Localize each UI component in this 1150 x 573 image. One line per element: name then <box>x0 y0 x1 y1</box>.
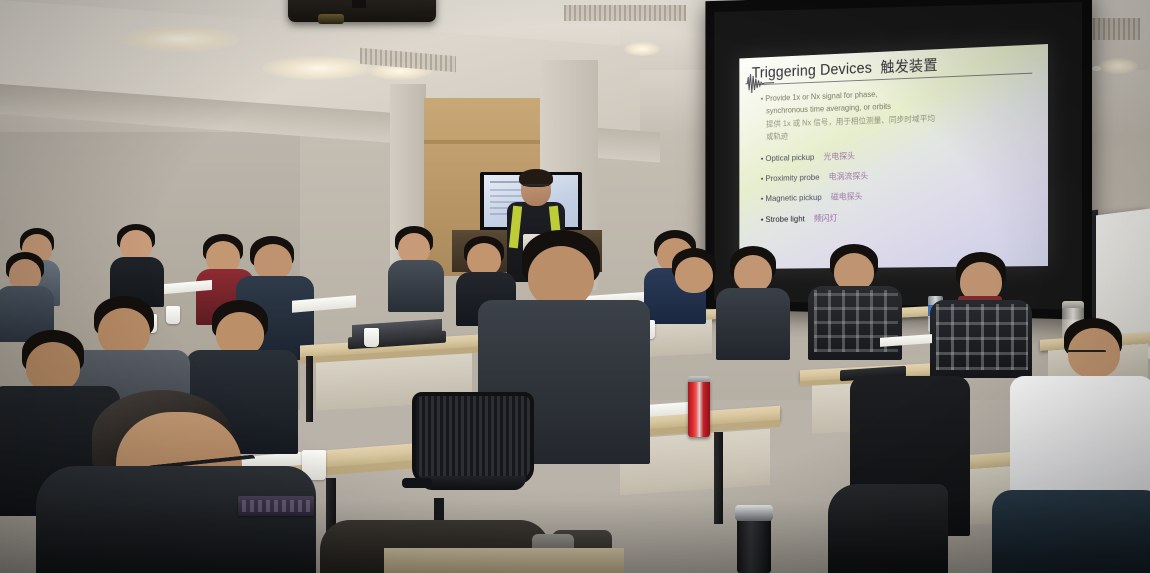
presentation-slide: Triggering Devices触发装置 • Provide 1x or N… <box>739 44 1048 269</box>
chair-lumbar-support <box>420 476 526 490</box>
chair-backrest <box>412 392 534 484</box>
slide-bullet: • Magnetic pickup磁电探头 <box>761 187 1042 205</box>
ceiling-light <box>624 42 660 56</box>
slide-bullets: • Provide 1x or Nx signal for phase, syn… <box>761 82 1042 226</box>
projector-lens-icon <box>318 14 344 24</box>
glasses-icon <box>523 184 549 191</box>
ceiling-air-vent <box>564 5 686 21</box>
attendee <box>666 248 726 308</box>
classroom-photo: Triggering Devices触发装置 • Provide 1x or N… <box>0 0 1150 573</box>
glasses-icon <box>1066 350 1106 358</box>
soda-can-top <box>688 376 710 382</box>
chair-armrest <box>402 478 432 488</box>
ceiling-light <box>120 26 240 52</box>
soda-can <box>688 379 710 437</box>
attendee <box>716 246 788 356</box>
ceiling-spot-light <box>1092 66 1101 71</box>
slide-bullet: • Optical pickup光电探头 <box>761 144 1042 164</box>
attendee <box>0 252 52 338</box>
ceiling-light <box>262 56 372 80</box>
slide-title-cn: 触发装置 <box>880 57 937 76</box>
desk-leg <box>306 356 313 422</box>
ceiling-light <box>1098 58 1138 74</box>
paper-cup <box>364 328 379 347</box>
attendee <box>388 226 442 308</box>
jar-cap <box>1062 301 1084 308</box>
wood-panel-seam <box>424 140 546 144</box>
attendee <box>112 224 162 304</box>
bottom-shadow <box>0 500 1150 573</box>
projector-mount <box>352 0 366 8</box>
slide-bullet: • Strobe light频闪灯 <box>761 208 1042 225</box>
office-chair <box>412 392 534 512</box>
slide-bullet: • Proximity probe电涡流探头 <box>761 165 1042 184</box>
